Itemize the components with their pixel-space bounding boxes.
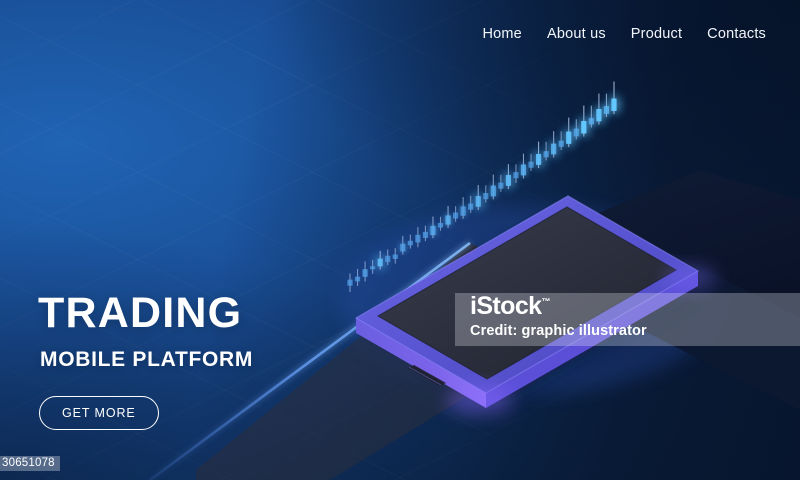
candlestick-body-down [498,183,503,189]
candlestick-chart-foreground [506,82,617,189]
candlestick [574,119,579,139]
candlestick-body-down [453,212,458,218]
candlestick-body-down [574,129,579,137]
candlestick-body-down [468,204,473,210]
candlestick-body-up [362,269,367,277]
candlestick-body-down [385,256,390,262]
candlestick-body-down [528,162,533,168]
candlestick-body-down [604,106,609,114]
candlestick-body-up [611,99,616,111]
candlestick [528,154,533,171]
candlestick-body-down [483,193,488,199]
candlestick [611,82,616,115]
candlestick [581,106,586,137]
candlestick [476,185,481,210]
candlestick-body-down [559,141,564,147]
candlestick [498,175,503,192]
phone-edge-glow [664,266,716,290]
candlestick-body-down [370,266,375,269]
landing-page: Home About us Product Contacts TRADING M… [0,0,800,480]
istock-logo: iStock™ [470,294,550,319]
page-title: TRADING [38,292,253,335]
candlestick-body-up [400,244,405,252]
phone-corner-glow [446,386,514,414]
candlestick [506,164,511,189]
candlestick [604,94,609,117]
candlestick-body-down [513,172,518,178]
get-more-button[interactable]: GET MORE [39,396,159,430]
candlestick-body-up [596,109,601,121]
candlestick [521,154,526,179]
candlestick-body-up [491,185,496,196]
candlestick-body-up [347,280,352,286]
candlestick-body-up [566,132,571,144]
watermark-credit: Credit: graphic illustrator [470,323,647,339]
nav-item-about-us[interactable]: About us [547,26,606,42]
candlestick-body-down [355,277,360,282]
page-subtitle: MOBILE PLATFORM [40,348,253,372]
candlestick [491,175,496,200]
asset-id-badge: 30651078 [0,456,60,471]
candlestick-body-up [536,154,541,165]
candlestick-body-up [415,235,420,243]
candlestick-body-up [461,206,466,215]
main-navigation: Home About us Product Contacts [482,26,766,42]
candlestick [544,142,549,161]
candlestick [461,197,466,219]
candlestick [536,142,541,168]
candlestick-body-up [581,121,586,133]
candlestick-body-up [551,144,556,155]
candlestick-body-down [408,241,413,246]
candlestick [445,206,450,228]
candlestick-body-up [445,215,450,224]
nav-item-contacts[interactable]: Contacts [707,26,766,42]
nav-item-home[interactable]: Home [482,26,521,42]
watermark: iStock™ Credit: graphic illustrator [470,294,647,339]
candlestick [559,131,564,150]
candlestick [513,164,518,183]
candlestick-body-up [378,259,383,267]
candlestick-body-down [423,232,428,238]
candlestick-body-down [589,118,594,124]
candlestick [596,94,601,125]
trademark-icon: ™ [541,297,550,307]
istock-logo-text: iStock [470,292,541,320]
hero-section: TRADING MOBILE PLATFORM GET MORE [38,292,253,430]
candlestick [589,106,594,128]
candlestick-body-up [476,196,481,207]
candlestick-body-up [430,226,435,235]
candlestick-body-down [438,223,443,228]
candlestick-body-up [506,175,511,186]
candlestick [551,131,556,157]
candlestick-body-down [544,151,549,157]
nav-item-product[interactable]: Product [631,26,682,42]
candlestick-body-up [393,254,398,259]
candlestick [566,118,571,147]
candlestick-body-up [521,165,526,176]
candlestick [483,185,488,202]
